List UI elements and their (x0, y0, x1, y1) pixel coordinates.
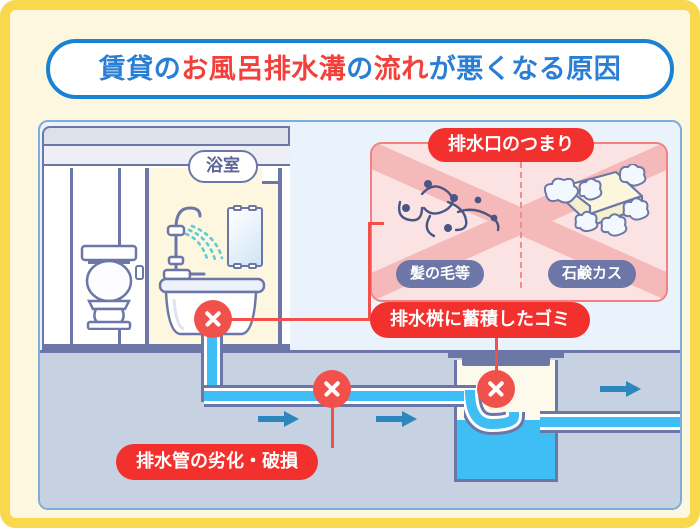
title-segment-1: 賃貸の (99, 56, 182, 83)
ceiling-slab (42, 126, 290, 146)
leader-line-vertical-clog (368, 222, 371, 320)
underground-soil (40, 350, 682, 510)
leader-line-pipe-callout (331, 404, 334, 448)
flow-arrow-3 (600, 380, 642, 403)
flow-arrow-1 (258, 410, 300, 433)
clog-cause-soap-pill: 石鹸カス (548, 260, 636, 288)
drain-clog-title-label: 排水口のつまり (448, 134, 574, 154)
title-segment-2: お風呂排水溝 (181, 56, 346, 83)
hair-strands-icon (392, 172, 514, 253)
title-segment-5: が悪くなる原因 (429, 56, 622, 83)
callout-pipe-deterioration: 排水管の劣化・破損 (116, 444, 318, 480)
toilet-icon (76, 244, 148, 335)
bathroom-mirror (227, 207, 263, 267)
flow-arrow-2 (376, 410, 418, 433)
leader-line-horizontal-clog (212, 318, 370, 321)
callout-basin-debris-label: 排水桝に蓄積したゴミ (390, 309, 570, 329)
page-title: 賃貸のお風呂排水溝の流れが悪くなる原因 (46, 39, 674, 99)
shower-head-icon (150, 202, 230, 289)
x-marker-pipe-damage (313, 370, 351, 408)
title-segment-4: 流れ (374, 56, 429, 83)
title-segment-3: の (346, 56, 374, 83)
callout-basin-debris: 排水桝に蓄積したゴミ (370, 302, 590, 338)
callout-pipe-deterioration-label: 排水管の劣化・破損 (136, 451, 298, 471)
drain-clog-title-pill: 排水口のつまり (428, 128, 594, 162)
clog-cause-soap-label: 石鹸カス (562, 265, 622, 282)
drain-pipe-outlet (540, 414, 682, 430)
interior-wall-left (70, 168, 73, 344)
drain-basin-cap (462, 354, 550, 366)
x-marker-basin-debris (477, 370, 515, 408)
x-marker-drain-clog (194, 300, 232, 338)
leader-line-stub-clog (368, 222, 384, 225)
drain-clog-card: 髪の毛等 石鹸カス (370, 142, 668, 302)
soap-scum-icon (540, 164, 652, 255)
outer-frame: 賃貸のお風呂排水溝の流れが悪くなる原因 (0, 0, 700, 528)
clog-cause-hair-pill: 髪の毛等 (396, 260, 484, 288)
room-label-pill: 浴室 (188, 150, 258, 183)
floor-slab (42, 344, 290, 352)
room-label-text: 浴室 (206, 156, 240, 175)
clog-cause-hair-label: 髪の毛等 (410, 265, 470, 282)
illustration-panel: 髪の毛等 石鹸カス 排水口のつまり 浴室 (38, 120, 682, 510)
clog-card-divider (520, 162, 522, 288)
